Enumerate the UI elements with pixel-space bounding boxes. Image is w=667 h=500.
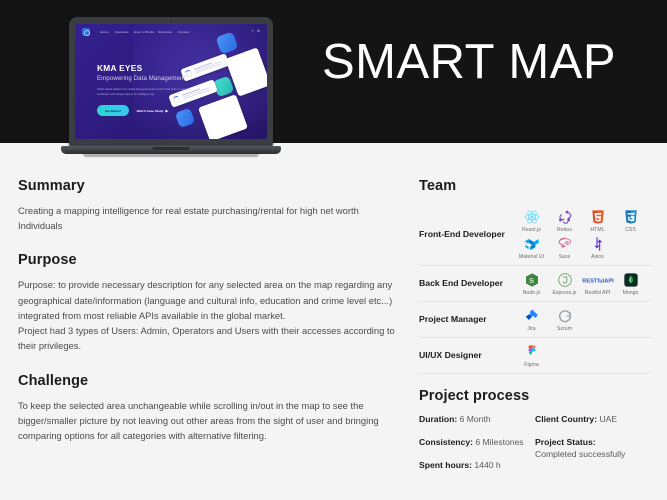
tech-label: React.js (522, 227, 541, 233)
summary-heading: Summary (18, 178, 398, 194)
tech-item: Material UI (515, 234, 548, 261)
team-role-label: Front-End Developer (419, 229, 515, 240)
laptop-lid: Home Features How It Works Solutions Con… (69, 17, 273, 147)
tech-stack-list: JiraScrum (515, 306, 651, 333)
team-row: Project ManagerJiraScrum (419, 302, 651, 338)
nav-link-how-it-works[interactable]: How It Works (134, 30, 154, 33)
process-value: Completed successfully (535, 449, 651, 461)
tech-label: HTML (590, 227, 604, 233)
get-started-button[interactable]: Get Started (97, 105, 129, 115)
process-value: 6 Month (460, 414, 491, 424)
summary-section: Summary Creating a mapping intelligence … (18, 178, 398, 233)
content-area: Summary Creating a mapping intelligence … (0, 143, 667, 500)
project-process-item: Project Status: Completed successfully (535, 437, 651, 461)
tech-label: CSS (625, 227, 636, 233)
tech-label: Sass (559, 254, 571, 260)
hero-heading: KMA EYES (97, 64, 219, 72)
project-process-item: Duration: 6 Month (419, 414, 535, 426)
purpose-section: Purpose Purpose: to provide necessary de… (18, 252, 398, 353)
process-value: UAE (599, 414, 617, 424)
tech-item: RESTfulAPIRestful API (581, 270, 614, 297)
scrum-icon (557, 306, 573, 325)
team-role-label: Back End Developer (419, 278, 515, 289)
laptop-camera-icon (170, 20, 172, 22)
process-key: Project Status: (535, 437, 596, 447)
tech-label: Redux (557, 227, 572, 233)
tech-item: Figma (515, 342, 548, 369)
team-heading: Team (419, 178, 651, 194)
team-table: Front-End DeveloperReact.jsReduxHTMLCSSM… (419, 203, 651, 374)
page-title: SMART MAP (322, 38, 616, 87)
tech-item: CSS (614, 207, 647, 234)
tech-stack-list: React.jsReduxHTMLCSSMaterial UISassAxios (515, 207, 651, 261)
hero-subheading: Empowering Data Management (97, 76, 219, 82)
project-process-right: Client Country: UAEProject Status: Compl… (535, 414, 651, 483)
team-row: Back End DeveloperNode.jsExpress.jsRESTf… (419, 266, 651, 302)
play-icon: ▶ (165, 109, 168, 113)
project-case-study-page: Home Features How It Works Solutions Con… (0, 0, 667, 500)
process-key: Consistency: (419, 437, 475, 447)
hero-paragraph: Smart based platform for private and gov… (97, 87, 194, 97)
team-role-label: Project Manager (419, 314, 515, 325)
challenge-section: Challenge To keep the selected area unch… (18, 373, 398, 444)
tech-label: Figma (524, 362, 538, 368)
header-banner: Home Features How It Works Solutions Con… (0, 0, 667, 143)
process-key: Duration: (419, 414, 460, 424)
axios-icon (590, 234, 606, 253)
tech-item: Mongo (614, 270, 647, 297)
nav-link-features[interactable]: Features (115, 30, 129, 33)
tech-stack-list: Node.jsExpress.jsRESTfulAPIRestful APIMo… (515, 270, 651, 297)
tech-item: Redux (548, 207, 581, 234)
purpose-heading: Purpose (18, 252, 398, 268)
tech-item: Axios (581, 234, 614, 261)
illustration-tile-blue-top (215, 31, 238, 54)
left-column: Summary Creating a mapping intelligence … (18, 178, 398, 443)
tech-item: React.js (515, 207, 548, 234)
redux-icon (557, 207, 573, 226)
expressjs-icon (557, 270, 573, 289)
project-process-left: Duration: 6 MonthConsistency: 6 Mileston… (419, 414, 535, 483)
team-row: UI/UX DesignerFigma (419, 338, 651, 374)
process-key: Client Country: (535, 414, 599, 424)
tech-label: Axios (591, 254, 604, 260)
right-column: Team Front-End DeveloperReact.jsReduxHTM… (419, 178, 651, 483)
css3-icon (623, 207, 639, 226)
tech-item: Node.js (515, 270, 548, 297)
team-section: Team Front-End DeveloperReact.jsReduxHTM… (419, 178, 651, 374)
mongodb-icon (623, 270, 639, 289)
purpose-body: Purpose: to provide necessary descriptio… (18, 277, 398, 353)
tech-label: Express.js (553, 290, 577, 296)
hero-content: KMA EYES Empowering Data Management Smar… (97, 64, 219, 116)
tech-label: Restful API (585, 290, 611, 296)
tech-item: HTML (581, 207, 614, 234)
challenge-body: To keep the selected area unchangeable w… (18, 398, 398, 444)
tech-item: Jira (515, 306, 548, 333)
project-process-item: Client Country: UAE (535, 414, 651, 426)
watch-case-study-label: Watch Case Study (137, 109, 164, 113)
tech-label: Mongo (623, 290, 639, 296)
watch-case-study-link[interactable]: Watch Case Study ▶ (137, 109, 169, 113)
hero-cta-group: Get Started Watch Case Study ▶ (97, 105, 219, 115)
team-role-label: UI/UX Designer (419, 350, 515, 361)
tech-label: Node.js (523, 290, 541, 296)
restful-api-icon: RESTfulAPI (581, 270, 615, 289)
process-key: Spent hours: (419, 460, 474, 470)
summary-body: Creating a mapping intelligence for real… (18, 203, 398, 233)
sass-icon (557, 234, 573, 253)
project-process-heading: Project process (419, 388, 651, 404)
process-value: 6 Milestones (475, 437, 523, 447)
nav-link-home[interactable]: Home (100, 30, 109, 33)
project-process-section: Project process Duration: 6 MonthConsist… (419, 388, 651, 483)
project-process-item: Spent hours: 1440 h (419, 460, 535, 472)
tech-item: Express.js (548, 270, 581, 297)
tech-label: Jira (527, 326, 535, 332)
process-value: 1440 h (474, 460, 500, 470)
figma-icon (524, 342, 540, 361)
svg-text:RESTfulAPI: RESTfulAPI (582, 278, 614, 284)
nodejs-icon (524, 270, 540, 289)
jira-icon (524, 306, 540, 325)
laptop-mockup: Home Features How It Works Solutions Con… (61, 17, 281, 162)
material-ui-icon (524, 234, 540, 253)
project-process-grid: Duration: 6 MonthConsistency: 6 Mileston… (419, 414, 651, 483)
project-process-item: Consistency: 6 Milestones (419, 437, 535, 449)
team-row: Front-End DeveloperReact.jsReduxHTMLCSSM… (419, 203, 651, 266)
tech-stack-list: Figma (515, 342, 651, 369)
tech-label: Material UI (519, 254, 544, 260)
kma-logo-icon (82, 28, 90, 36)
challenge-heading: Challenge (18, 373, 398, 389)
tech-label: Scrum (557, 326, 572, 332)
laptop-screen: Home Features How It Works Solutions Con… (75, 24, 267, 139)
html5-icon (590, 207, 606, 226)
tech-item: Scrum (548, 306, 581, 333)
tech-item: Sass (548, 234, 581, 261)
react-icon (524, 207, 540, 226)
